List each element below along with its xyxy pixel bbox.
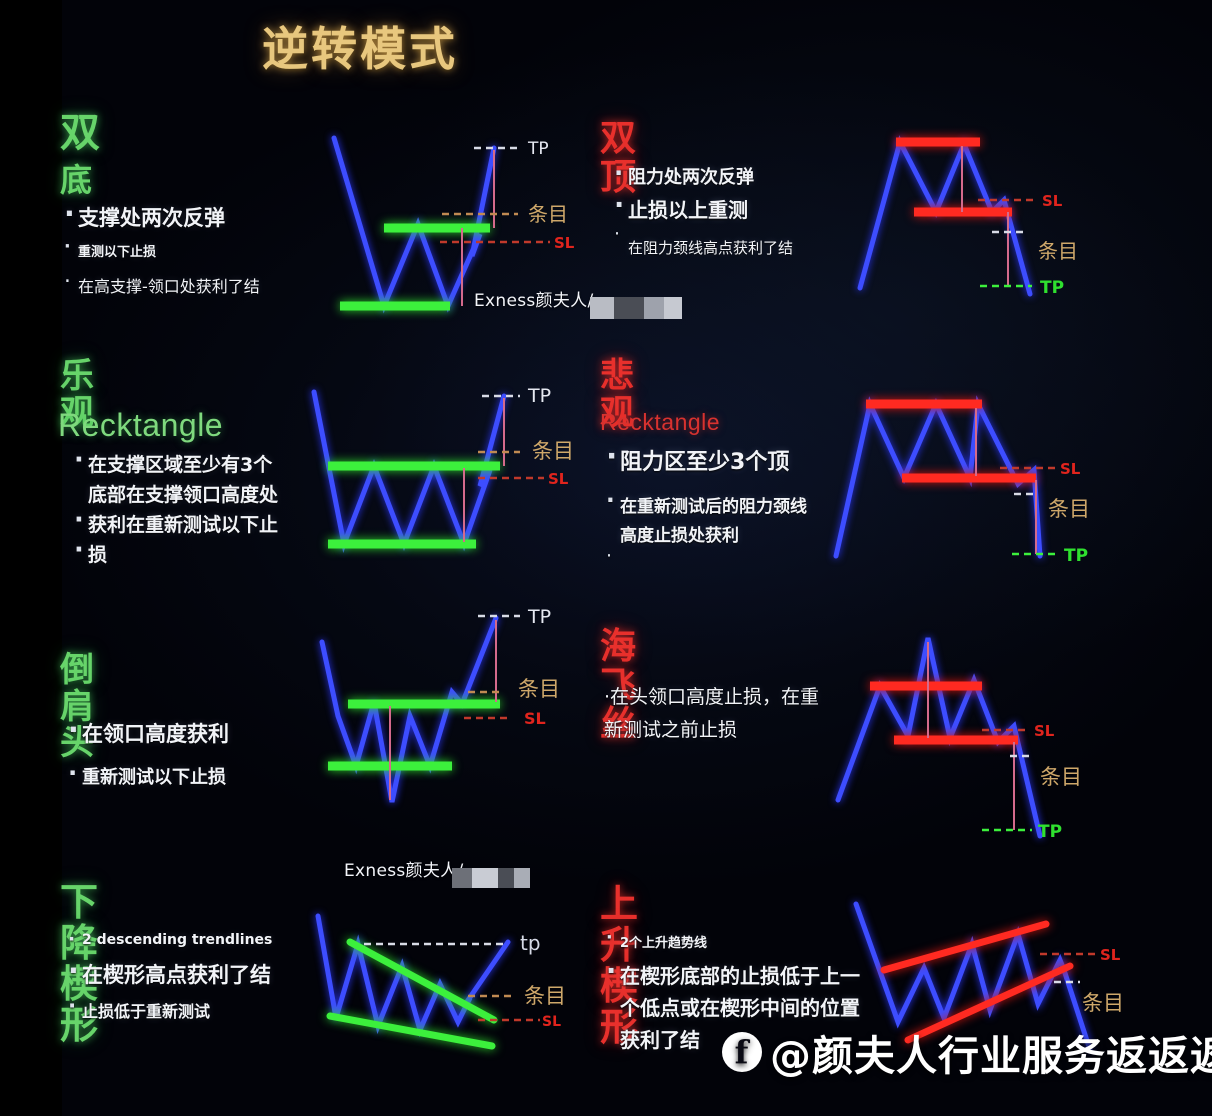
facebook-icon: f: [722, 1032, 762, 1072]
chart-label-tp: tp: [520, 931, 541, 955]
chart-head-shoulders: SL 条目 TP: [832, 618, 1112, 858]
chart-label-entry: 条目: [528, 202, 568, 226]
chart-double-top: SL 条目 TP: [852, 128, 1102, 318]
chart-label-sl: SL: [542, 1014, 561, 1030]
facebook-watermark: f @颜夫人行业服务返返返: [722, 1022, 1212, 1082]
pattern-title2-double-bottom: 底: [60, 163, 93, 198]
pattern-title-double-bottom: 双: [60, 112, 101, 155]
chart-label-tp: TP: [527, 385, 551, 407]
bullet-list-double-bottom: 支撑处两次反弹 重测以下止损 在高支撑-领口处获利了结: [62, 202, 362, 297]
chart-label-tp: TP: [527, 606, 551, 628]
chart-bearish-rectangle: SL 条目 TP: [822, 388, 1112, 578]
chart-label-entry: 条目: [524, 984, 566, 1008]
chart-label-sl: SL: [1034, 722, 1055, 740]
chart-label-tp: TP: [1040, 278, 1064, 298]
chart-label-tp: TP: [1038, 822, 1062, 842]
chart-label-tp: TP: [1064, 546, 1088, 566]
chart-label-tp: TP: [527, 139, 549, 159]
infographic-canvas: 逆转模式 双 底 支撑处两次反弹 重测以下止损 在高支撑-领口处获利了结: [0, 0, 1212, 1116]
chart-inverse-hs: TP 条目 SL: [312, 600, 582, 820]
watermark-redaction-top: [590, 297, 682, 319]
pattern-subtitle-bearish-rectangle: Recktangle: [600, 409, 720, 436]
watermark-exness-top: Exness颜夫人/: [474, 286, 593, 311]
chart-label-sl: SL: [524, 709, 546, 728]
chart-label-entry: 条目: [518, 677, 560, 701]
chart-label-entry: 条目: [532, 439, 574, 463]
watermark-redaction-mid: [452, 868, 530, 888]
chart-label-entry: 条目: [1040, 765, 1082, 789]
chart-label-sl: SL: [1042, 192, 1063, 210]
chart-label-sl: SL: [1060, 460, 1081, 478]
watermark-exness-mid: Exness颜夫人/: [344, 856, 463, 881]
chart-label-sl: SL: [1100, 946, 1121, 964]
chart-label-entry: 条目: [1082, 991, 1124, 1015]
chart-bullish-rectangle: TP 条目 SL: [282, 378, 572, 568]
page-title: 逆转模式: [262, 26, 662, 72]
pattern-subtitle-bullish-rectangle: Recktangle: [58, 407, 223, 444]
chart-label-sl: SL: [554, 234, 575, 252]
list-item: 重测以下止损: [62, 241, 362, 260]
list-item: 支撑处两次反弹: [62, 202, 362, 232]
chart-label-entry: 条目: [1038, 239, 1078, 263]
chart-falling-wedge: tp 条目 SL: [312, 908, 592, 1058]
chart-label-entry: 条目: [1048, 497, 1090, 521]
facebook-handle: @颜夫人行业服务返返返: [770, 1022, 1212, 1082]
list-item: 在高支撑-领口处获利了结: [62, 273, 362, 297]
chart-label-sl: SL: [548, 470, 569, 488]
left-black-bar: [0, 0, 62, 1116]
